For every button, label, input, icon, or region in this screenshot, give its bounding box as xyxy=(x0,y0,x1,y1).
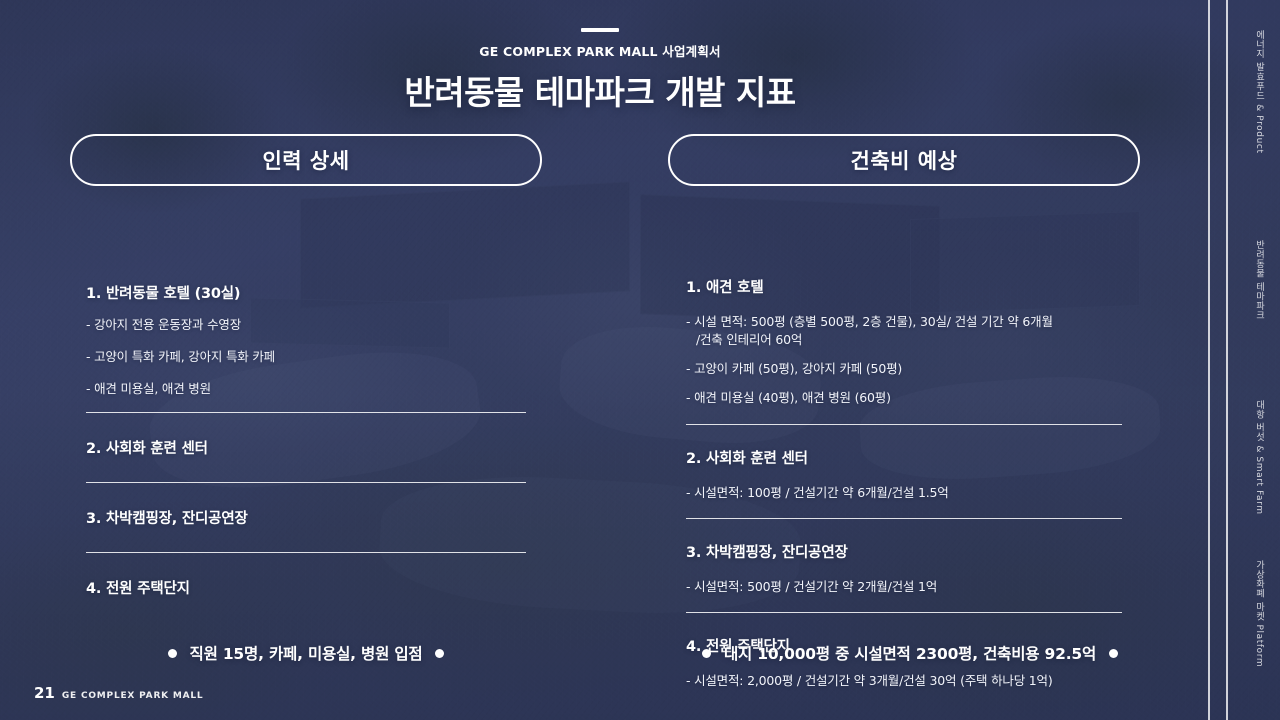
bullet-dot-icon xyxy=(168,649,177,658)
bullet-dot-icon xyxy=(702,649,711,658)
left-item-title: 3. 차박캠핑장, 잔디공연장 xyxy=(86,507,526,528)
right-divider xyxy=(686,612,1122,613)
right-group-3: 3. 차박캠핑장, 잔디공연장 - 시설면적: 500평 / 건설기간 약 2개… xyxy=(686,541,1122,613)
rail-line-inner xyxy=(1226,0,1228,720)
right-panel-header-pill: 건축비 예상 xyxy=(668,134,1140,186)
right-item-sub: - 시설면적: 500평 / 건설기간 약 2개월/건설 1억 xyxy=(686,578,1122,596)
right-item-title: 3. 차박캠핑장, 잔디공연장 xyxy=(686,541,1122,562)
right-item-sub: - 시설면적: 100평 / 건설기간 약 6개월/건설 1.5억 xyxy=(686,484,1122,502)
right-vertical-rail: 에너지 발효푸드 & Product 반려동물 테마파크 대항 버섯 & Sma… xyxy=(1200,0,1280,720)
footer-brand: GE COMPLEX PARK MALL xyxy=(62,691,204,701)
left-group-1: 1. 반려동물 호텔 (30실) - 강아지 전용 운동장과 수영장 - 고양이… xyxy=(86,208,526,413)
left-divider xyxy=(86,412,526,413)
left-item-sub: - 고양이 특화 카페, 강아지 특화 카페 xyxy=(86,348,526,366)
right-summary-text: 대지 10,000평 중 시설면적 2300평, 건축비용 92.5억 xyxy=(724,642,1096,664)
page-title: 반려동물 테마파크 개발 지표 xyxy=(0,66,1200,114)
slide-header: GE COMPLEX PARK MALL 사업계획서 반려동물 테마파크 개발 … xyxy=(0,28,1200,114)
right-group-1: 1. 애견 호텔 - 시설 면적: 500평 (층별 500평, 2층 건물),… xyxy=(686,208,1122,425)
left-panel-body: 1. 반려동물 호텔 (30실) - 강아지 전용 운동장과 수영장 - 고양이… xyxy=(70,208,542,598)
right-panel: 건축비 예상 1. 애견 호텔 - 시설 면적: 500평 (층별 500평, … xyxy=(668,134,1140,701)
rail-item-platform[interactable]: 가상화폐 마켓 Platform xyxy=(1253,560,1266,667)
rail-item-smartfarm[interactable]: 대항 버섯 & Smart Farm xyxy=(1253,400,1266,515)
rail-item-petpark[interactable]: 반려동물 테마파크 xyxy=(1253,240,1266,320)
left-panel-title: 인력 상세 xyxy=(262,145,349,175)
right-panel-body: 1. 애견 호텔 - 시설 면적: 500평 (층별 500평, 2층 건물),… xyxy=(668,208,1140,690)
left-item-title: 2. 사회화 훈련 센터 xyxy=(86,437,526,458)
left-group-2: 2. 사회화 훈련 센터 xyxy=(86,437,526,483)
left-item-title: 4. 전원 주택단지 xyxy=(86,577,526,598)
right-panel-title: 건축비 예상 xyxy=(851,145,958,175)
right-group-2: 2. 사회화 훈련 센터 - 시설면적: 100평 / 건설기간 약 6개월/건… xyxy=(686,447,1122,519)
right-divider xyxy=(686,518,1122,519)
right-item-title: 2. 사회화 훈련 센터 xyxy=(686,447,1122,468)
left-group-4: 4. 전원 주택단지 xyxy=(86,577,526,598)
title-accent-bar xyxy=(581,28,619,32)
left-item-sub: - 강아지 전용 운동장과 수영장 xyxy=(86,316,526,334)
left-item-title: 1. 반려동물 호텔 (30실) xyxy=(86,282,526,303)
bullet-dot-icon xyxy=(1109,649,1118,658)
left-item-sub: - 애견 미용실, 애견 병원 xyxy=(86,380,526,398)
left-divider xyxy=(86,482,526,483)
right-item-sub: - 시설면적: 2,000평 / 건설기간 약 3개월/건설 30억 (주택 하… xyxy=(686,672,1122,690)
slide-canvas: GE COMPLEX PARK MALL 사업계획서 반려동물 테마파크 개발 … xyxy=(0,0,1280,720)
left-divider xyxy=(86,552,526,553)
left-panel: 인력 상세 1. 반려동물 호텔 (30실) - 강아지 전용 운동장과 수영장… xyxy=(70,134,542,598)
slide-eyebrow: GE COMPLEX PARK MALL 사업계획서 xyxy=(0,41,1200,60)
left-summary-text: 직원 15명, 카페, 미용실, 병원 입점 xyxy=(190,642,423,664)
right-item-sub-line: - 시설 면적: 500평 (층별 500평, 2층 건물), 30실/ 건설 … xyxy=(686,314,1053,329)
right-summary: 대지 10,000평 중 시설면적 2300평, 건축비용 92.5억 xyxy=(660,642,1160,664)
rail-item-energy[interactable]: 에너지 발효푸드 & Product xyxy=(1253,30,1266,154)
left-panel-header-pill: 인력 상세 xyxy=(70,134,542,186)
right-item-sub-continuation: /건축 인테리어 60억 xyxy=(686,331,1122,349)
right-item-sub: - 시설 면적: 500평 (층별 500평, 2층 건물), 30실/ 건설 … xyxy=(686,313,1122,349)
page-number: 21 xyxy=(34,684,55,702)
right-item-sub: - 애견 미용실 (40평), 애견 병원 (60평) xyxy=(686,389,1122,407)
page-footer: 21 GE COMPLEX PARK MALL xyxy=(34,684,203,702)
right-item-title: 1. 애견 호텔 xyxy=(686,276,1122,297)
left-summary: 직원 15명, 카페, 미용실, 병원 입점 xyxy=(70,642,542,664)
bullet-dot-icon xyxy=(435,649,444,658)
rail-line-outer xyxy=(1208,0,1210,720)
right-item-sub: - 고양이 카페 (50평), 강아지 카페 (50평) xyxy=(686,360,1122,378)
left-group-3: 3. 차박캠핑장, 잔디공연장 xyxy=(86,507,526,553)
right-divider xyxy=(686,424,1122,425)
